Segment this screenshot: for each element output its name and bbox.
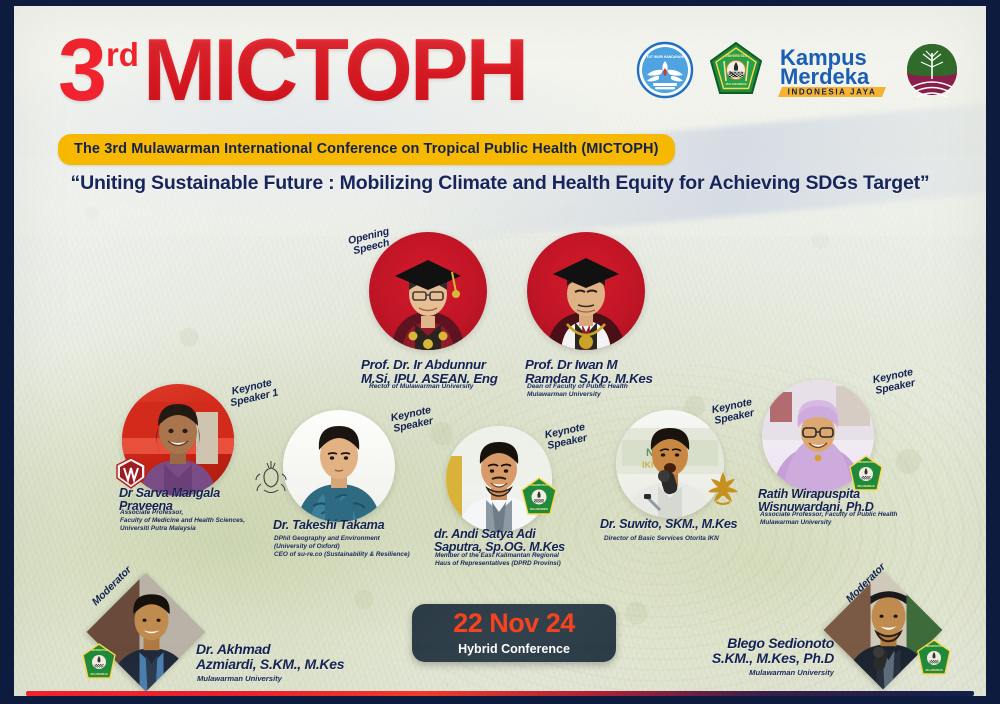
- moderator-akhmad-azmiardi-university-badge: UNIVERSITAS MULAWARMAN: [80, 642, 118, 687]
- svg-text:UNIVERSITAS: UNIVERSITAS: [530, 483, 548, 487]
- speaker-abdunnur-affiliation: Rector of Mulawarman University: [369, 383, 539, 391]
- conference-name-banner: The 3rd Mulawarman International Confere…: [58, 134, 675, 165]
- speaker-abdunnur-name: Prof. Dr. Ir Abdunnur M.Si, IPU. ASEAN. …: [361, 358, 521, 386]
- bottom-accent-bar: [26, 691, 974, 696]
- date-value: 22 Nov 24: [453, 610, 575, 637]
- svg-text:MULAWARMAN: MULAWARMAN: [726, 82, 747, 86]
- speaker-takeshi-takama-emblem: [252, 458, 290, 503]
- speaker-andi-satya-university-badge: UNIVERSITAS MULAWARMAN: [519, 476, 559, 523]
- speaker-iwan-ramdan-name: Prof. Dr Iwan M Ramdan S.Kp. M.Kes: [525, 358, 695, 386]
- speaker-abdunnur-photo: [369, 232, 487, 350]
- title-acronym: MICTOPH: [143, 30, 526, 111]
- speaker-ratih-wirapuspita-affiliation: Associate Professor, Faculty of Public H…: [760, 511, 986, 527]
- speaker-suwito-affiliation: Director of Basic Services Otorita IKN: [604, 535, 824, 543]
- speaker-suwito-ikn-logo: [704, 468, 742, 513]
- svg-text:TUT WURI HANDAYANI: TUT WURI HANDAYANI: [646, 55, 683, 59]
- svg-text:UNIVERSITAS: UNIVERSITAS: [91, 649, 108, 652]
- kampus-merdeka-logo: Kampus Merdeka INDONESIA JAYA: [778, 41, 890, 104]
- speaker-ratih-wirapuspita: Keynote Speaker UNIVERSITAS MULAWARMAN R…: [14, 6, 126, 118]
- conference-mode: Hybrid Conference: [458, 642, 570, 656]
- svg-text:UNIVERSITAS: UNIVERSITAS: [926, 645, 943, 648]
- speaker-iwan-ramdan-affiliation: Dean of Faculty of Public Health Mulawar…: [527, 383, 697, 399]
- tut-wuri-handayani-logo: TUT WURI HANDAYANI: [636, 41, 694, 104]
- speaker-iwan-ramdan-photo: [527, 232, 645, 350]
- svg-text:MULAWARMAN: MULAWARMAN: [90, 673, 107, 676]
- svg-text:MULAWARMAN: MULAWARMAN: [530, 508, 548, 511]
- kampus-merdeka-tagline: INDONESIA JAYA: [788, 88, 877, 97]
- kampus-merdeka-line2: Merdeka: [780, 64, 870, 89]
- moderator-blego-sedionoto-name: Blego Sedionoto S.KM., M.Kes, Ph.D: [634, 636, 834, 666]
- moderator-blego-sedionoto-university-badge: UNIVERSITAS MULAWARMAN: [915, 638, 953, 683]
- moderator-akhmad-azmiardi-name: Dr. Akhmad Azmiardi, S.KM., M.Kes: [196, 642, 426, 672]
- poster-canvas: 3 rd MICTOPH TUT WURI HANDAYANI: [14, 6, 986, 696]
- tropical-leaf-logo: [904, 41, 960, 104]
- svg-text:MULAWARMAN: MULAWARMAN: [925, 669, 942, 672]
- svg-text:UNIVERSITAS: UNIVERSITAS: [725, 54, 746, 58]
- date-badge: 22 Nov 24 Hybrid Conference: [412, 604, 616, 662]
- moderator-akhmad-azmiardi-affiliation: Mulawarman University: [197, 674, 397, 683]
- logo-strip: TUT WURI HANDAYANI UNIVERSITAS: [636, 41, 960, 104]
- svg-text:UNIVERSITAS: UNIVERSITAS: [858, 461, 875, 464]
- moderator-blego-sedionoto-affiliation: Mulawarman University: [634, 668, 834, 677]
- speaker-andi-satya-affiliation: Member of the East Kalimantan Regional H…: [435, 552, 645, 568]
- conference-theme: “Uniting Sustainable Future : Mobilizing…: [14, 172, 986, 195]
- mulawarman-university-logo: UNIVERSITAS MULAWARMAN: [708, 41, 764, 104]
- conference-poster: 3 rd MICTOPH TUT WURI HANDAYANI: [0, 0, 1000, 704]
